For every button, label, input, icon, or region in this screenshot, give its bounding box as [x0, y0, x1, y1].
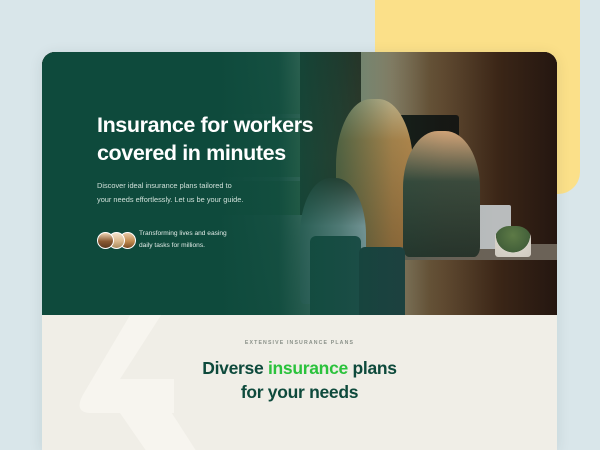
avatar-group	[97, 232, 130, 249]
social-proof-text: Transforming lives and easing daily task…	[139, 228, 231, 252]
section-title-line-2: for your needs	[241, 382, 358, 402]
screenshot-canvas: Insurance for workers covered in minutes…	[0, 0, 600, 450]
social-proof: Transforming lives and easing daily task…	[97, 228, 327, 252]
hero-subtitle: Discover ideal insurance plans tailored …	[97, 179, 247, 206]
plans-section: EXTENSIVE INSURANCE PLANS Diverse insura…	[42, 315, 557, 450]
plans-content: EXTENSIVE INSURANCE PLANS Diverse insura…	[42, 315, 557, 404]
hero-title: Insurance for workers covered in minutes	[97, 112, 327, 168]
section-title-part-1: Diverse	[202, 358, 268, 378]
hero-title-line-2: covered in minutes	[97, 141, 286, 165]
section-title-accent: insurance	[268, 358, 348, 378]
hero-section: Insurance for workers covered in minutes…	[42, 52, 557, 315]
section-title: Diverse insurance plans for your needs	[42, 357, 557, 404]
section-eyebrow: EXTENSIVE INSURANCE PLANS	[42, 340, 557, 346]
section-title-part-2: plans	[348, 358, 397, 378]
hero-content: Insurance for workers covered in minutes…	[97, 112, 327, 252]
decorative-yellow-shape-notch	[375, 0, 465, 42]
landing-page-card: Insurance for workers covered in minutes…	[42, 52, 557, 450]
hero-title-line-1: Insurance for workers	[97, 113, 313, 137]
avatar	[97, 232, 114, 249]
